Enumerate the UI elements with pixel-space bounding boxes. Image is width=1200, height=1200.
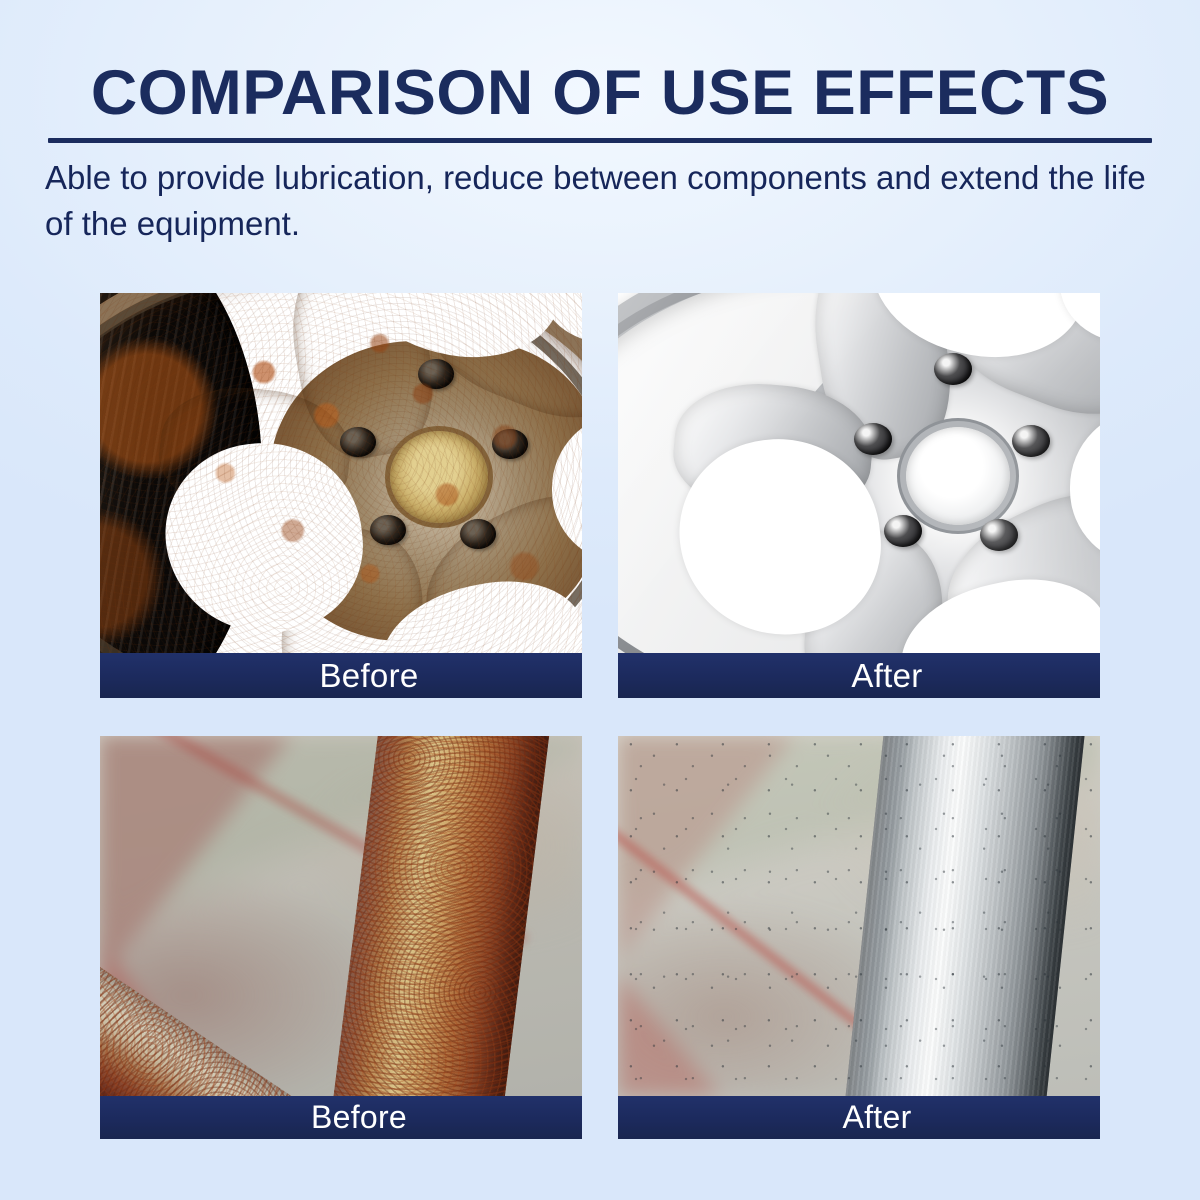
comparison-card-pipe-after: After xyxy=(618,736,1100,1139)
lug-nut xyxy=(980,519,1018,551)
comparison-card-wheel-before: Before xyxy=(100,293,582,698)
photo-pipe-rusty xyxy=(100,736,582,1096)
comparison-grid: Before xyxy=(100,293,1100,1177)
label-bar-after: After xyxy=(618,653,1100,698)
wheel-center-cap xyxy=(390,431,488,523)
wheel-center-cap xyxy=(906,427,1010,525)
comparison-row-pipe: Before After xyxy=(100,736,1100,1139)
lug-nut xyxy=(370,515,406,545)
header: COMPARISON OF USE EFFECTS xyxy=(0,0,1200,125)
comparison-card-pipe-before: Before xyxy=(100,736,582,1139)
page-title: COMPARISON OF USE EFFECTS xyxy=(0,0,1200,125)
lug-nut xyxy=(934,353,972,385)
label-text-before: Before xyxy=(311,1099,407,1136)
photo-pipe-clean xyxy=(618,736,1100,1096)
lug-nut xyxy=(340,427,376,457)
label-text-before: Before xyxy=(319,657,418,695)
comparison-card-wheel-after: After xyxy=(618,293,1100,698)
title-divider xyxy=(48,138,1152,143)
lug-nut xyxy=(492,429,528,459)
label-bar-before: Before xyxy=(100,1096,582,1139)
lug-nut xyxy=(884,515,922,547)
page-subtitle: Able to provide lubrication, reduce betw… xyxy=(45,155,1155,246)
lug-nut xyxy=(418,359,454,389)
photo-wheel-clean xyxy=(618,293,1100,653)
label-text-after: After xyxy=(842,1099,911,1136)
lug-nut xyxy=(1012,425,1050,457)
lug-nut xyxy=(460,519,496,549)
label-bar-after: After xyxy=(618,1096,1100,1139)
comparison-row-wheel: Before xyxy=(100,293,1100,698)
label-bar-before: Before xyxy=(100,653,582,698)
lug-nut xyxy=(854,423,892,455)
photo-wheel-rusty xyxy=(100,293,582,653)
pipe-vertical xyxy=(842,736,1087,1096)
label-text-after: After xyxy=(851,657,922,695)
comparison-infographic: COMPARISON OF USE EFFECTS Able to provid… xyxy=(0,0,1200,1200)
